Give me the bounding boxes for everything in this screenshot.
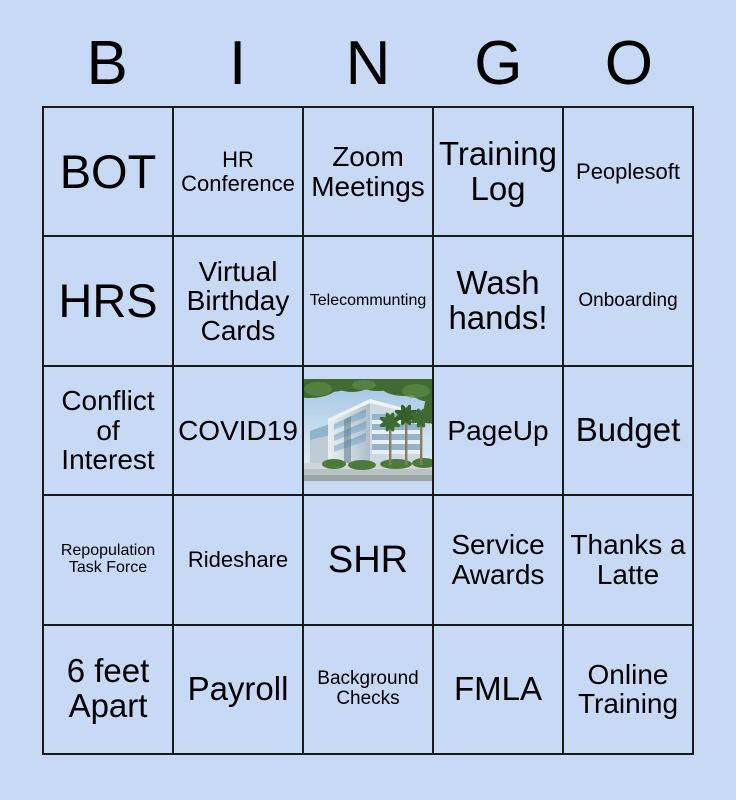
- bingo-cell-label: HRS: [48, 276, 168, 326]
- office-building-photo: [304, 379, 432, 481]
- bingo-cell-label: Rideshare: [178, 548, 298, 571]
- bingo-cell-label: Payroll: [178, 672, 298, 707]
- header-letter-i: I: [172, 33, 302, 95]
- bingo-cell-r5c2[interactable]: Payroll: [174, 626, 304, 755]
- header-letter-g: G: [433, 33, 563, 95]
- bingo-cell-r1c4[interactable]: Training Log: [434, 108, 564, 237]
- bingo-cell-r5c5[interactable]: Online Training: [564, 626, 694, 755]
- bingo-cell-r2c2[interactable]: Virtual Birthday Cards: [174, 237, 304, 366]
- bingo-cell-r4c4[interactable]: Service Awards: [434, 496, 564, 625]
- bingo-cell-label: Training Log: [438, 137, 558, 207]
- bingo-cell-r4c3[interactable]: SHR: [304, 496, 434, 625]
- bingo-cell-r4c2[interactable]: Rideshare: [174, 496, 304, 625]
- bingo-cell-r5c3[interactable]: Background Checks: [304, 626, 434, 755]
- bingo-cell-r3c2[interactable]: COVID19: [174, 367, 304, 496]
- bingo-cell-r5c4[interactable]: FMLA: [434, 626, 564, 755]
- bingo-cell-label: BOT: [48, 147, 168, 197]
- bingo-cell-r2c4[interactable]: Wash hands!: [434, 237, 564, 366]
- bingo-cell-label: Peoplesoft: [568, 160, 688, 183]
- bingo-cell-r4c5[interactable]: Thanks a Latte: [564, 496, 694, 625]
- bingo-cell-label: Conflict of Interest: [48, 386, 168, 475]
- bingo-cell-r2c3[interactable]: Telecommunting: [304, 237, 434, 366]
- bingo-cell-label: PageUp: [438, 416, 558, 446]
- bingo-cell-r3c1[interactable]: Conflict of Interest: [44, 367, 174, 496]
- bingo-cell-r1c5[interactable]: Peoplesoft: [564, 108, 694, 237]
- bingo-cell-label: Virtual Birthday Cards: [178, 257, 298, 346]
- bingo-cell-label: Online Training: [568, 660, 688, 719]
- bingo-cell-label: Service Awards: [438, 530, 558, 589]
- header-letter-n: N: [303, 33, 433, 95]
- bingo-card: B I N G O BOTHR ConferenceZoom MeetingsT…: [0, 0, 736, 800]
- bingo-cell-r5c1[interactable]: 6 feet Apart: [44, 626, 174, 755]
- bingo-cell-label: COVID19: [178, 416, 298, 446]
- bingo-cell-label: Repopulation Task Force: [48, 543, 168, 577]
- bingo-cell-label: Onboarding: [568, 291, 688, 311]
- bingo-cell-label: Wash hands!: [438, 266, 558, 336]
- bingo-cell-r1c2[interactable]: HR Conference: [174, 108, 304, 237]
- bingo-cell-label: Budget: [568, 413, 688, 448]
- bingo-header: B I N G O: [42, 28, 694, 100]
- bingo-cell-r1c1[interactable]: BOT: [44, 108, 174, 237]
- bingo-cell-r2c1[interactable]: HRS: [44, 237, 174, 366]
- bingo-cell-label: Thanks a Latte: [568, 530, 688, 589]
- bingo-cell-r3c3[interactable]: [304, 367, 434, 496]
- bingo-cell-label: Zoom Meetings: [308, 142, 428, 201]
- bingo-cell-label: HR Conference: [178, 148, 298, 195]
- bingo-cell-label: 6 feet Apart: [48, 654, 168, 724]
- bingo-cell-label: Background Checks: [308, 669, 428, 709]
- bingo-cell-r2c5[interactable]: Onboarding: [564, 237, 694, 366]
- header-letter-b: B: [42, 33, 172, 95]
- bingo-cell-r3c4[interactable]: PageUp: [434, 367, 564, 496]
- bingo-cell-label: SHR: [308, 540, 428, 580]
- bingo-cell-label: FMLA: [438, 672, 558, 707]
- bingo-cell-label: Telecommunting: [308, 293, 428, 310]
- bingo-cell-r1c3[interactable]: Zoom Meetings: [304, 108, 434, 237]
- bingo-grid: BOTHR ConferenceZoom MeetingsTraining Lo…: [42, 106, 694, 755]
- header-letter-o: O: [564, 33, 694, 95]
- bingo-cell-r4c1[interactable]: Repopulation Task Force: [44, 496, 174, 625]
- bingo-cell-r3c5[interactable]: Budget: [564, 367, 694, 496]
